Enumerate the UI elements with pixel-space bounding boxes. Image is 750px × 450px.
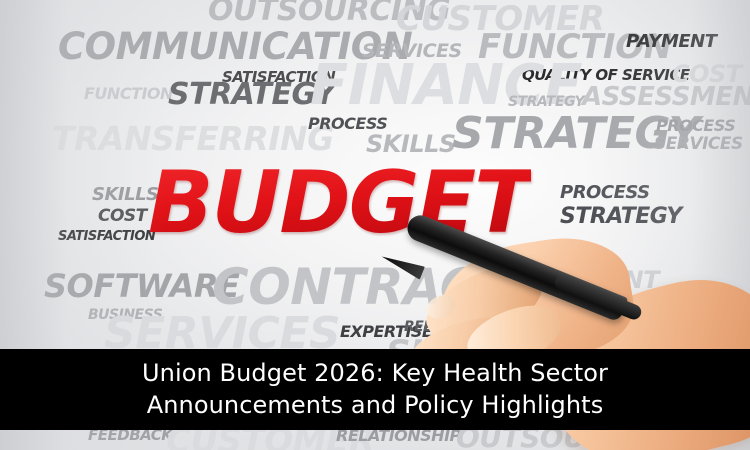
cloud-word: EXPERT	[610, 292, 750, 330]
cloud-word: SOFTWARE	[44, 270, 239, 302]
cloud-word: STRATEGY	[560, 206, 682, 228]
cloud-word: STRATEGY	[508, 95, 584, 109]
screenshot-root: OUTSOURCINGCUSTOMERCOMMUNICATIONSERVICES…	[0, 0, 750, 450]
cloud-word: FUNCTION	[84, 86, 173, 102]
cloud-word: COST	[98, 208, 147, 225]
cloud-word: RELATIONSHIP	[404, 320, 512, 334]
cloud-word: RELATIONSHIP	[640, 330, 732, 342]
cloud-word: FEEDBACK	[88, 428, 172, 443]
cloud-word: PROCESS	[560, 184, 650, 202]
cloud-word: PROCESS	[656, 118, 735, 134]
cloud-word: SATISFACTION	[58, 230, 155, 243]
cloud-word: PAYMENT	[626, 33, 717, 51]
hero-word-budget: BUDGET	[148, 160, 531, 246]
cloud-word: SERVICES	[654, 136, 743, 153]
caption-bar: Union Budget 2026: Key Health Sector Ann…	[0, 349, 750, 430]
caption-line-2: Announcements and Policy Highlights	[147, 390, 604, 422]
cloud-word: ASSESSMENT	[582, 84, 750, 110]
cloud-word: TRANSFERRING	[52, 122, 334, 155]
caption-line-1: Union Budget 2026: Key Health Sector	[142, 358, 608, 390]
cloud-word: CONTRACT	[212, 262, 510, 312]
cloud-word: RELATIONSHIP	[336, 428, 461, 444]
